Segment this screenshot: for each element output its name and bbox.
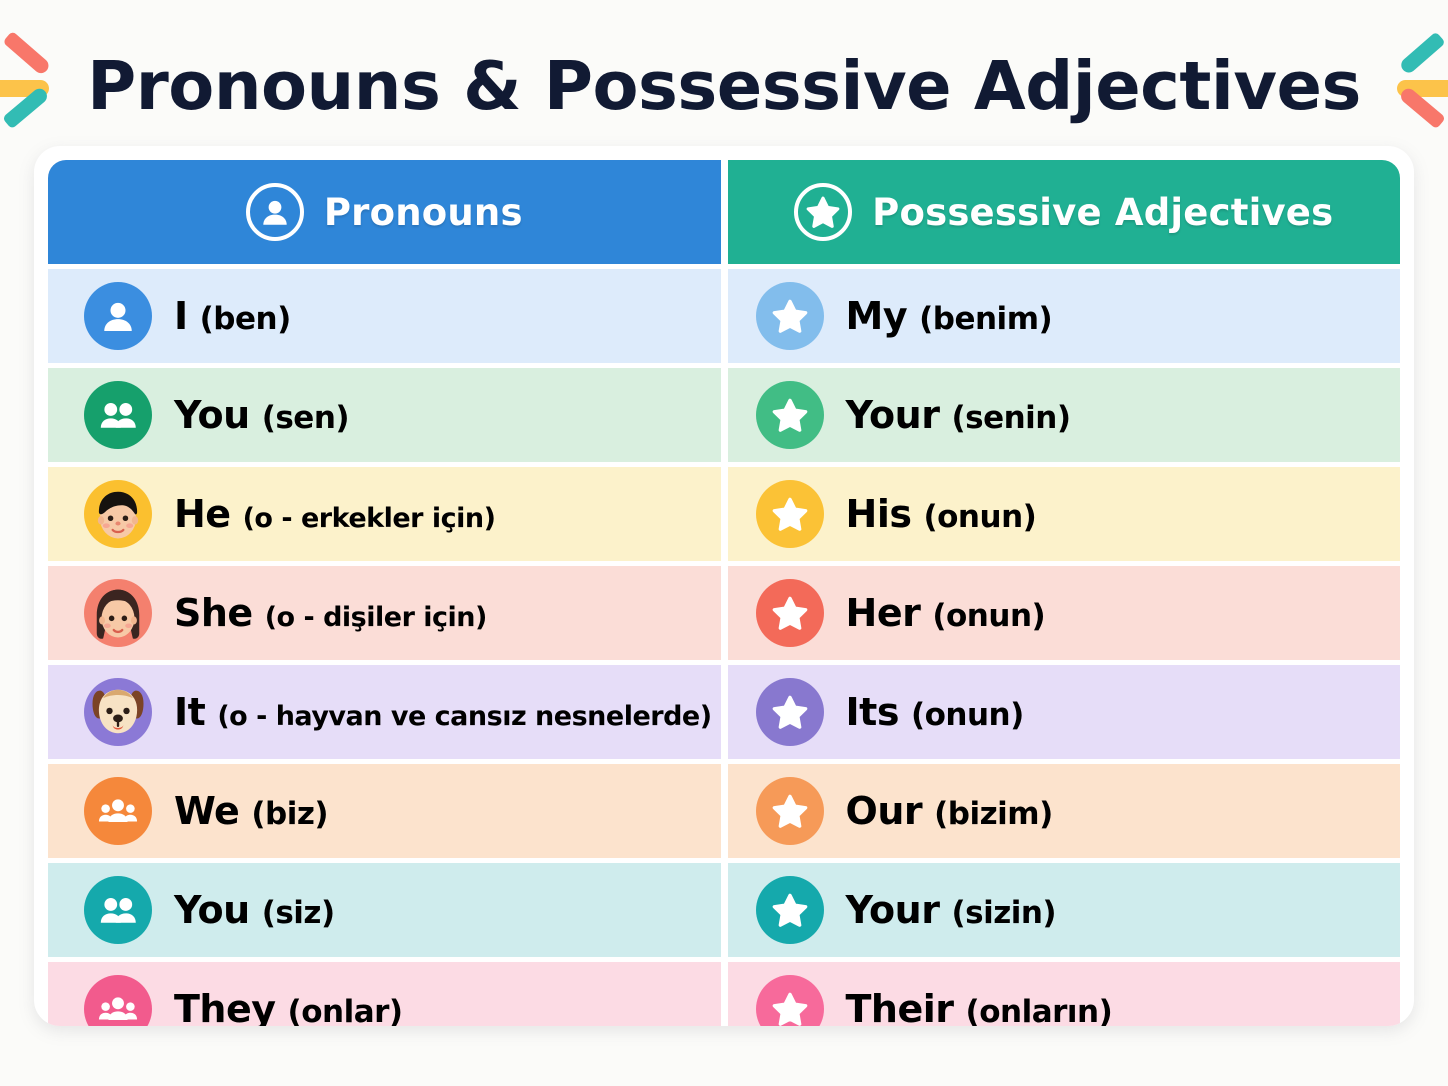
term: My(benim) (846, 294, 1053, 338)
pronoun-cell: I(ben) (48, 269, 721, 363)
sparkle-burst-left-icon (0, 30, 61, 142)
table-row: They(onlar)Their(onların) (48, 962, 1400, 1026)
person-icon (246, 183, 304, 241)
term-word: Its (846, 690, 899, 734)
term-translation: (sizin) (951, 895, 1056, 931)
term: Her(onun) (846, 591, 1046, 635)
term-word: They (174, 987, 276, 1026)
term: I(ben) (174, 294, 291, 338)
term-translation: (bizim) (934, 796, 1053, 832)
pronoun-cell: She(o - dişiler için) (48, 566, 721, 660)
column-header-pronouns: Pronouns (48, 160, 721, 264)
term-translation: (sen) (262, 400, 349, 436)
three-people-icon (84, 975, 152, 1026)
dog-face-icon (84, 678, 152, 746)
term-translation: (ben) (200, 301, 291, 337)
star-icon (756, 381, 824, 449)
pronoun-cell: He(o - erkekler için) (48, 467, 721, 561)
term-translation: (onlar) (288, 994, 403, 1026)
page-title: Pronouns & Possessive Adjectives (87, 53, 1361, 120)
column-header-label: Pronouns (324, 191, 523, 234)
two-people-icon (84, 876, 152, 944)
table-row: It(o - hayvan ve cansız nesnelerde)Its(o… (48, 665, 1400, 759)
possessive-adjective-cell: Their(onların) (728, 962, 1400, 1026)
table-row: She(o - dişiler için)Her(onun) (48, 566, 1400, 660)
term: He(o - erkekler için) (174, 492, 495, 536)
column-header-label: Possessive Adjectives (872, 191, 1333, 234)
sparkle-burst-right-icon (1387, 30, 1448, 142)
pronoun-cell: You(sen) (48, 368, 721, 462)
term: She(o - dişiler için) (174, 591, 487, 635)
term-word: I (174, 294, 188, 338)
pronoun-cell: They(onlar) (48, 962, 721, 1026)
term-translation: (onların) (966, 994, 1113, 1026)
term-word: He (174, 492, 231, 536)
pronoun-cell: You(siz) (48, 863, 721, 957)
table-row: We(biz)Our(bizim) (48, 764, 1400, 858)
boy-face-icon (84, 480, 152, 548)
term: Its(onun) (846, 690, 1024, 734)
star-icon (756, 876, 824, 944)
term-word: Your (846, 888, 940, 932)
three-people-icon (84, 777, 152, 845)
term-word: It (174, 690, 205, 734)
possessive-adjective-cell: Our(bizim) (728, 764, 1400, 858)
term: His(onun) (846, 492, 1037, 536)
term-translation: (senin) (951, 400, 1070, 436)
term: Your(sizin) (846, 888, 1057, 932)
possessive-adjective-cell: Your(senin) (728, 368, 1400, 462)
term-word: My (846, 294, 908, 338)
title-row: Pronouns & Possessive Adjectives (0, 28, 1448, 144)
comparison-table: PronounsPossessive AdjectivesI(ben)My(be… (48, 160, 1400, 1012)
term-translation: (siz) (262, 895, 335, 931)
table-row: You(siz)Your(sizin) (48, 863, 1400, 957)
table-header-row: PronounsPossessive Adjectives (48, 160, 1400, 264)
term-translation: (o - erkekler için) (243, 503, 496, 534)
term-word: Her (846, 591, 921, 635)
star-icon (756, 282, 824, 350)
term-word: You (174, 393, 250, 437)
term-translation: (o - hayvan ve cansız nesnelerde) (217, 701, 711, 732)
two-people-icon (84, 381, 152, 449)
term-word: Their (846, 987, 954, 1026)
star-icon (756, 678, 824, 746)
girl-face-icon (84, 579, 152, 647)
possessive-adjective-cell: Her(onun) (728, 566, 1400, 660)
term: They(onlar) (174, 987, 403, 1026)
term: It(o - hayvan ve cansız nesnelerde) (174, 690, 712, 734)
single-person-icon (84, 282, 152, 350)
term: You(siz) (174, 888, 335, 932)
term: Your(senin) (846, 393, 1071, 437)
possessive-adjective-cell: Your(sizin) (728, 863, 1400, 957)
term-translation: (o - dişiler için) (265, 602, 487, 633)
term: Our(bizim) (846, 789, 1053, 833)
term-word: We (174, 789, 239, 833)
term-word: His (846, 492, 912, 536)
term-word: Our (846, 789, 923, 833)
term-word: Your (846, 393, 940, 437)
term-word: She (174, 591, 253, 635)
table-row: He(o - erkekler için)His(onun) (48, 467, 1400, 561)
term-translation: (benim) (919, 301, 1052, 337)
term-word: You (174, 888, 250, 932)
star-icon (756, 777, 824, 845)
poster: Pronouns & Possessive Adjectives Pronoun… (0, 0, 1448, 1086)
table-row: You(sen)Your(senin) (48, 368, 1400, 462)
column-header-possessive-adjectives: Possessive Adjectives (728, 160, 1401, 264)
possessive-adjective-cell: His(onun) (728, 467, 1400, 561)
term: We(biz) (174, 789, 328, 833)
term-translation: (onun) (923, 499, 1036, 535)
term-translation: (onun) (911, 697, 1024, 733)
term: You(sen) (174, 393, 349, 437)
star-icon (794, 183, 852, 241)
possessive-adjective-cell: My(benim) (728, 269, 1400, 363)
pronoun-cell: We(biz) (48, 764, 721, 858)
comparison-table-card: PronounsPossessive AdjectivesI(ben)My(be… (34, 146, 1414, 1026)
term: Their(onların) (846, 987, 1113, 1026)
table-row: I(ben)My(benim) (48, 269, 1400, 363)
star-icon (756, 579, 824, 647)
pronoun-cell: It(o - hayvan ve cansız nesnelerde) (48, 665, 721, 759)
star-icon (756, 975, 824, 1026)
possessive-adjective-cell: Its(onun) (728, 665, 1400, 759)
term-translation: (biz) (251, 796, 328, 832)
star-icon (756, 480, 824, 548)
term-translation: (onun) (932, 598, 1045, 634)
